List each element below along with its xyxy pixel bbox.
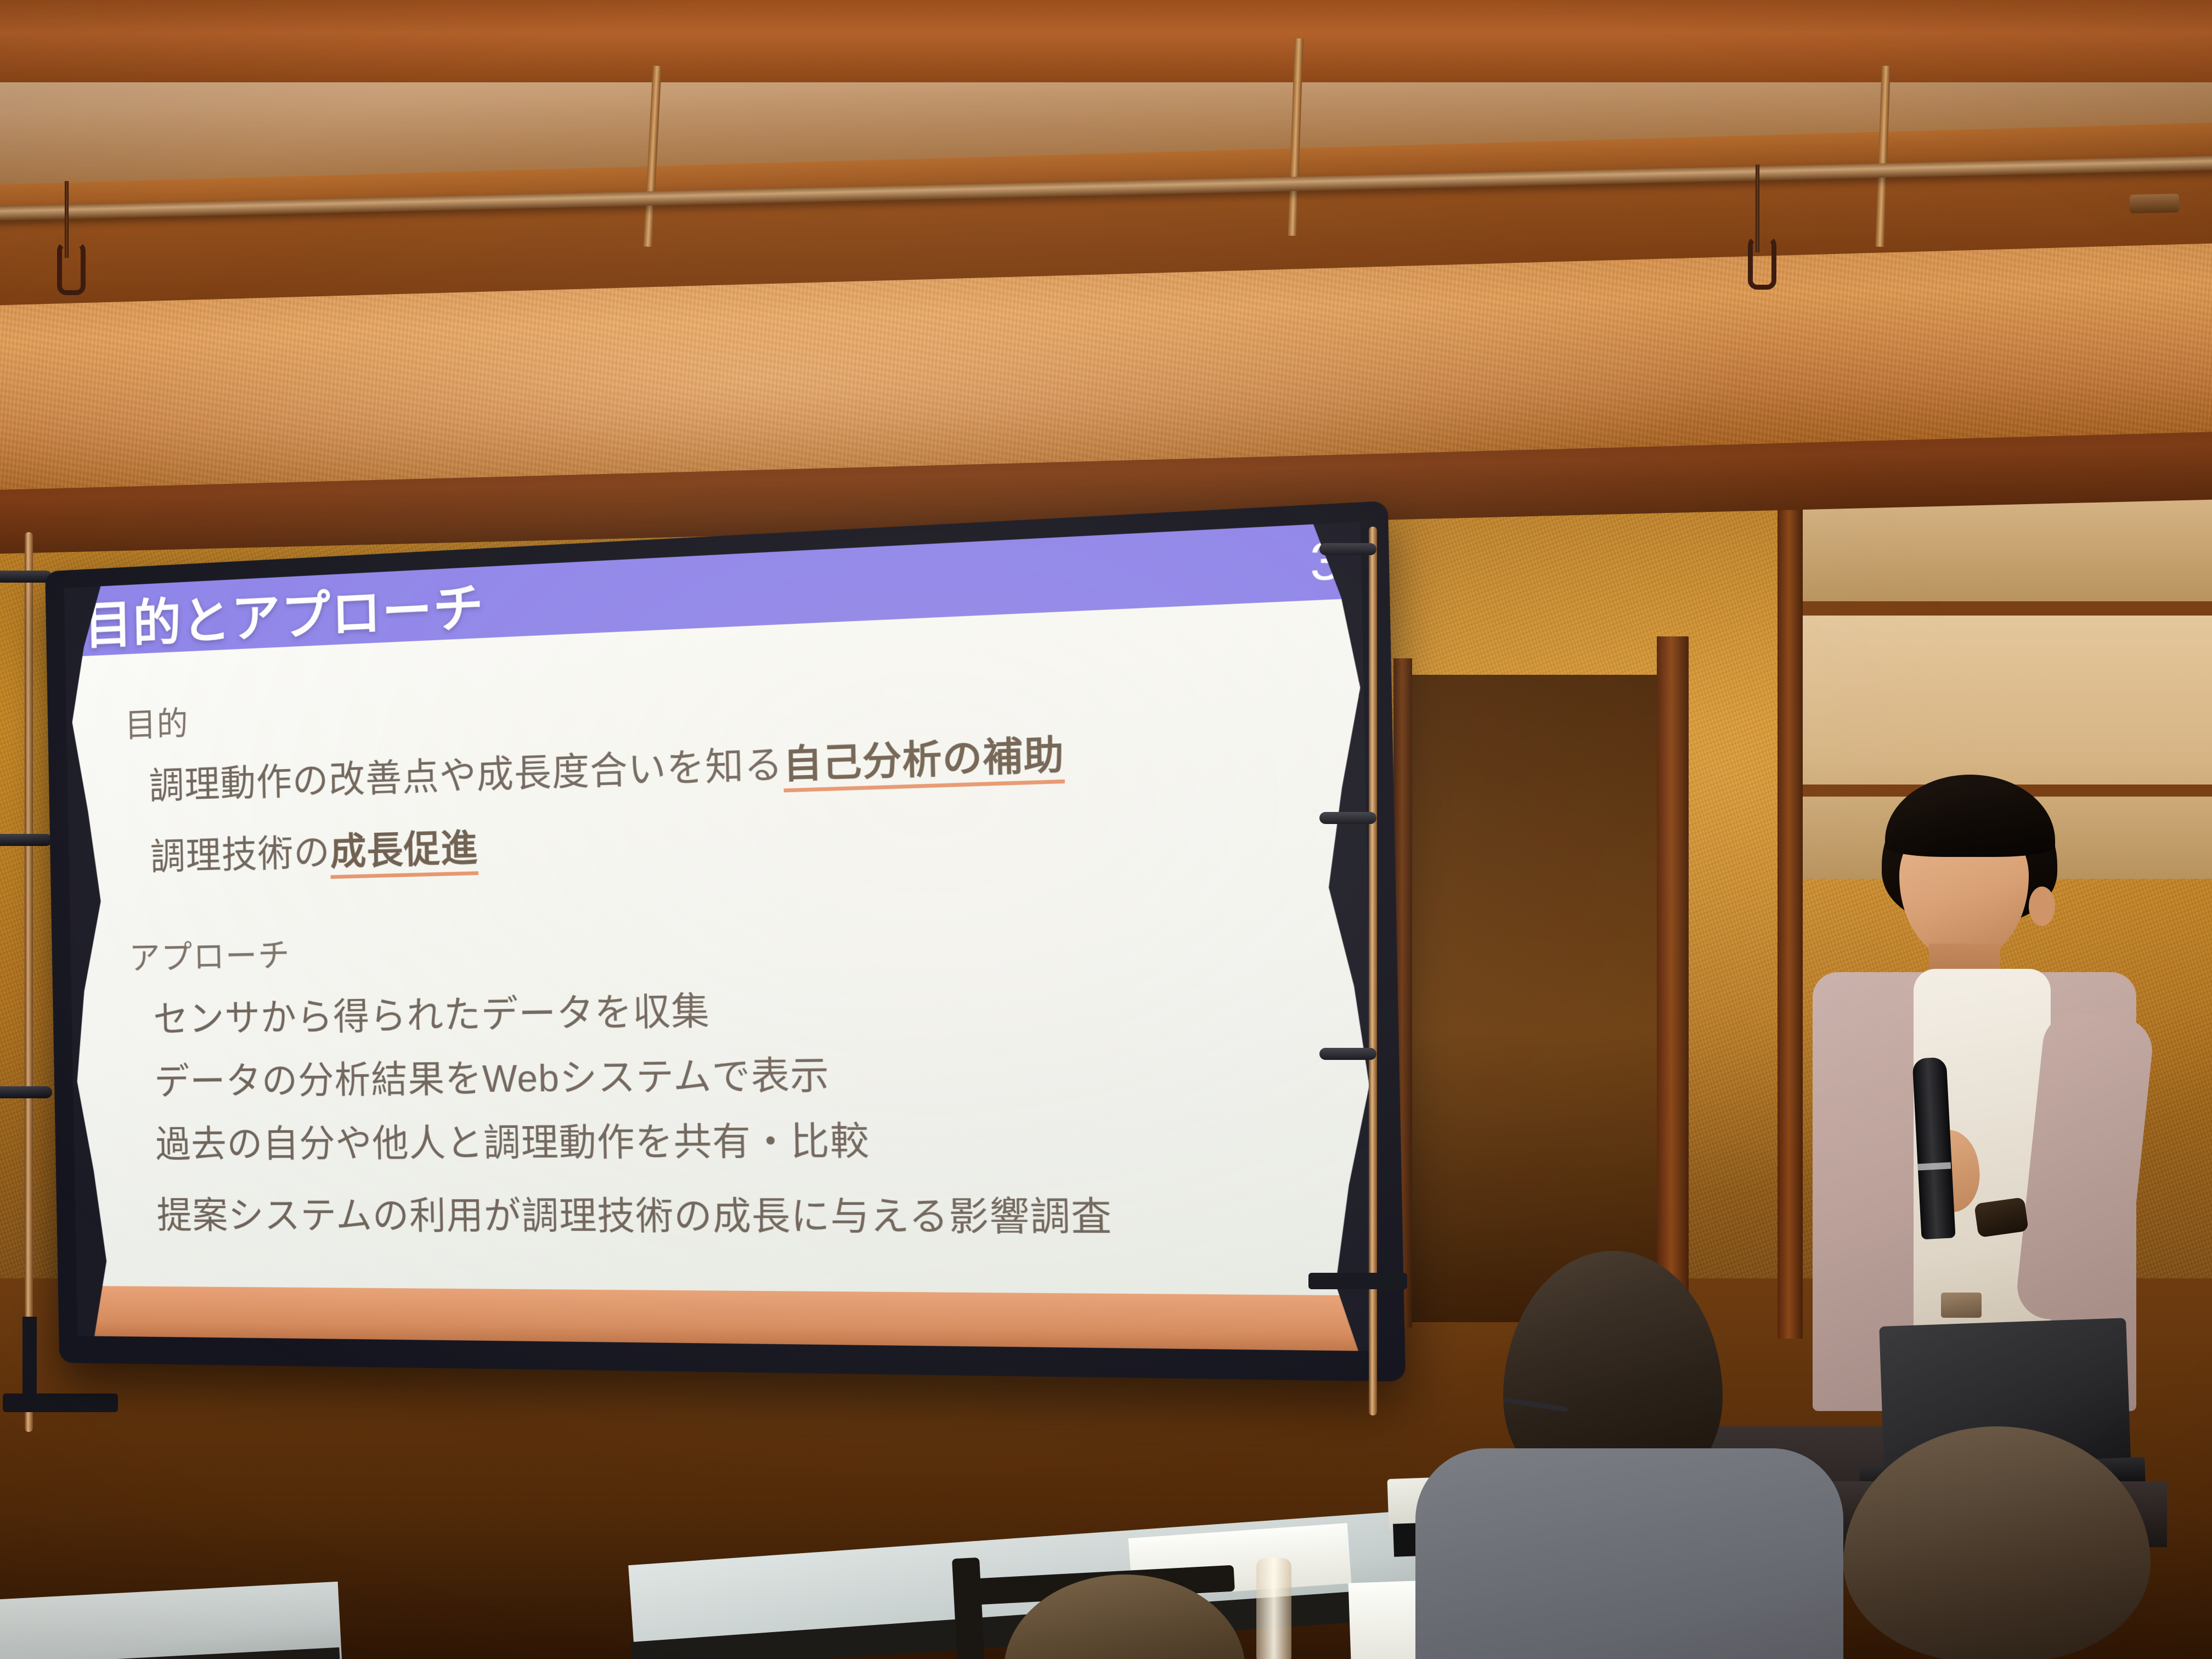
water-bottle	[1256, 1558, 1291, 1659]
hanging-hook-left	[57, 241, 86, 295]
presenter-name-badge	[1941, 1293, 1982, 1318]
screen-clip-right-1	[1319, 543, 1376, 555]
screen-clip-left-3	[0, 1086, 52, 1098]
purpose-line-1-text: 調理動作の改善点や成長度合いを知る	[149, 743, 783, 807]
approach-line-4: 提案システムの利用が調理技術の成長に与える影響調査	[133, 1185, 1333, 1243]
ceiling-pipe-cap	[2130, 194, 2180, 213]
presenter-watch	[1974, 1197, 2029, 1238]
approach-line-3: 過去の自分や他人と調理動作を共有・比較	[132, 1107, 1331, 1168]
screen-frame: 目的とアプローチ 3 目的 調理動作の改善点や成長度合いを知る自己分析の補助 調…	[45, 501, 1406, 1382]
projection-screen: 目的とアプローチ 3 目的 調理動作の改善点や成長度合いを知る自己分析の補助 調…	[0, 538, 1396, 1426]
approach-line-1: センサから得られたデータを収集	[130, 970, 1329, 1043]
doorway-recess	[1404, 675, 1662, 1322]
screen-foot-left-brace	[22, 1317, 37, 1404]
screen-clip-right-2	[1319, 812, 1376, 824]
approach-line-2: データの分析結果をWebシステムで表示	[131, 1039, 1330, 1106]
wooden-post-right	[1657, 636, 1689, 1333]
screen-clip-left-2	[0, 834, 52, 846]
purpose-line-2: 調理技術の成長促進	[127, 792, 1324, 882]
screen-pole-left	[25, 532, 33, 1432]
screen-foot-right	[1308, 1273, 1407, 1289]
audience-body-center	[1415, 1448, 1843, 1659]
hanging-hook-right	[1748, 236, 1776, 290]
chair-back	[952, 1558, 985, 1659]
screen-light-spill	[77, 1286, 1377, 1351]
presenter-hair-top	[1885, 775, 2055, 857]
purpose-line-1-highlight: 自己分析の補助	[783, 733, 1065, 792]
purpose-line-2-text: 調理技術の	[150, 832, 330, 878]
slide-body: 目的 調理動作の改善点や成長度合いを知る自己分析の補助 調理技術の成長促進 アプ…	[65, 598, 1377, 1351]
ceiling-top	[0, 0, 2212, 82]
screen-foot-left	[3, 1393, 118, 1412]
purpose-line-2-highlight: 成長促進	[330, 827, 478, 879]
slide-content: 目的とアプローチ 3 目的 調理動作の改善点や成長度合いを知る自己分析の補助 調…	[64, 522, 1377, 1351]
screen-clip-right-3	[1319, 1048, 1376, 1060]
screen-fabric: 目的とアプローチ 3 目的 調理動作の改善点や成長度合いを知る自己分析の補助 調…	[64, 522, 1377, 1351]
screen-clip-left-1	[0, 571, 52, 583]
shoji-rail-upper	[1803, 601, 2212, 616]
presenter-ear	[2029, 887, 2055, 926]
photo-scene: 目的とアプローチ 3 目的 調理動作の改善点や成長度合いを知る自己分析の補助 調…	[0, 0, 2212, 1659]
